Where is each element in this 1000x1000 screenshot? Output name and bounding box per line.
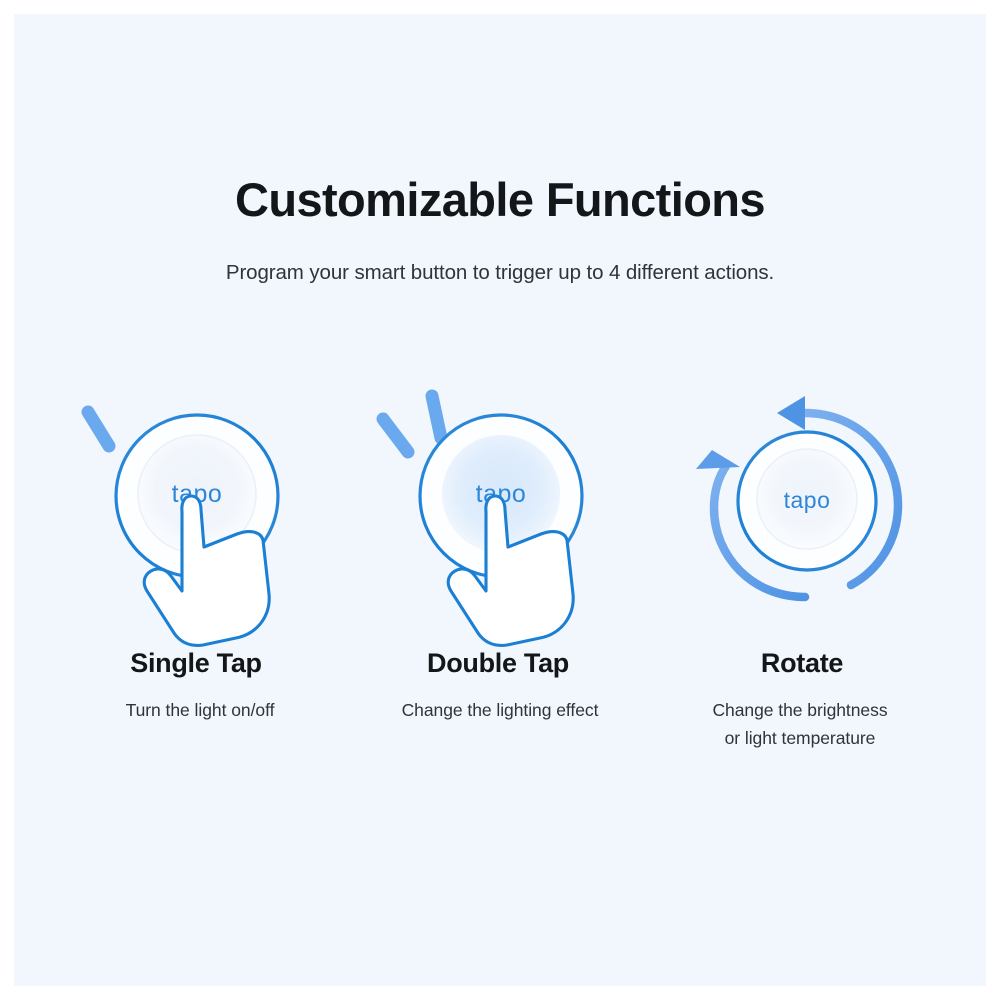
card-caption-double-tap: Change the lighting effect (402, 679, 599, 724)
arrow-head-left (777, 396, 805, 430)
card-heading-rotate: Rotate (761, 649, 843, 679)
rotate-icon: tapo (674, 388, 934, 653)
page-title: Customizable Functions (14, 174, 986, 227)
header: Customizable Functions Program your smar… (14, 174, 986, 285)
card-caption-rotate-line2: or light temperature (725, 728, 876, 748)
tapo-logo-text: tapo (784, 487, 831, 513)
screenshot-root: Customizable Functions Program your smar… (0, 0, 1000, 1000)
feature-card-double-tap: tapo Double Tap Change the lighting effe… (350, 384, 650, 724)
feature-card-rotate: tapo Rotate Change the brightness or lig… (650, 384, 950, 752)
card-heading-double-tap: Double Tap (427, 649, 569, 679)
card-caption-rotate: Change the brightness or light temperatu… (712, 679, 887, 753)
card-caption-single-tap: Turn the light on/off (126, 679, 275, 724)
content-panel: Customizable Functions Program your smar… (14, 14, 986, 986)
page-subtitle: Program your smart button to trigger up … (14, 227, 986, 285)
feature-card-single-tap: tapo Single Tap Turn the light on/off (50, 384, 350, 724)
tap-mark-group (88, 412, 109, 446)
tap-mark-group (383, 396, 441, 452)
card-heading-single-tap: Single Tap (130, 649, 262, 679)
card-caption-rotate-line1: Change the brightness (712, 700, 887, 720)
feature-cards-row: tapo Single Tap Turn the light on/off (14, 384, 986, 752)
double-tap-icon: tapo (368, 384, 628, 649)
single-tap-icon: tapo (64, 384, 324, 649)
arrow-head-up (696, 450, 740, 469)
